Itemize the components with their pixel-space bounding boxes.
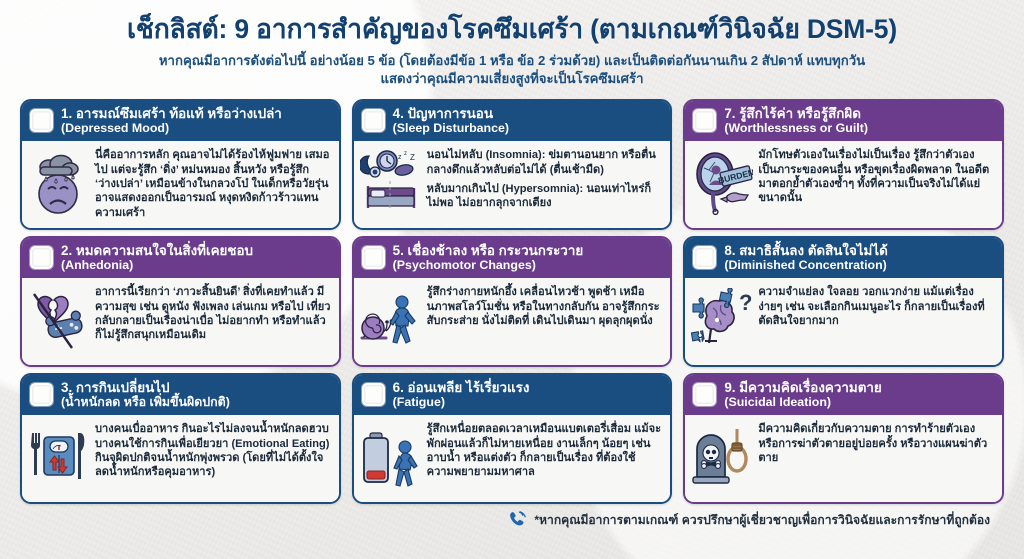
moon-clock-bed-icon: z z Z [360,148,422,220]
card-body: BURDEN มักโทษตัวเองในเรื่องไม่เป็นเรื่อง… [685,141,1002,228]
card-body: z z Z นอนไม่หลับ ( [354,141,671,228]
snail-walking-person-icon [360,285,422,357]
card-body: บางคนเบื่ออาหาร กินอะไรไม่ลงจนน้ำหนักลดฮ… [22,415,339,502]
card-body: มีความคิดเกี่ยวกับความตาย การทำร้ายตัวเอ… [685,415,1002,502]
cracked-mirror-burden-icon: BURDEN [691,148,753,220]
symptom-card-7[interactable]: 7. รู้สึกไร้ค่า หรือรู้สึกผิด (Worthless… [683,99,1004,230]
description-paragraph: มักโทษตัวเองในเรื่องไม่เป็นเรื่อง รู้สึก… [758,148,994,205]
checkbox-symptom-1[interactable] [30,109,53,132]
description-paragraph: อาการนี้เรียกว่า ‘ภาวะสิ้นยินดี’ สิ่งที่… [95,285,331,342]
svg-text:Z: Z [410,153,415,162]
card-header: 1. อารมณ์ซึมเศร้า ท้อแท้ หรือว่างเปล่า (… [22,101,339,141]
card-title-en: (Anhedonia) [61,258,253,272]
description-paragraph: รู้สึกเหนื่อยตลอดเวลาเหมือนแบตเตอรี่เสื่… [427,422,663,479]
symptom-card-6[interactable]: 6. อ่อนเพลีย ไร้เรี่ยวแรง (Fatigue) [352,373,673,504]
checkbox-symptom-3[interactable] [30,383,53,406]
phone-ringing-icon [508,511,528,529]
description-paragraph: รู้สึกร่างกายหนักอึ้ง เคลื่อนไหวช้า พูดช… [427,285,663,328]
description-paragraph: บางคนเบื่ออาหาร กินอะไรไม่ลงจนน้ำหนักลดฮ… [95,422,331,479]
tombstone-noose-icon [691,422,753,494]
card-title-th: 3. การกินเปลี่ยนไป [61,380,230,395]
fork-knife-weight-scale-icon [28,422,90,494]
card-description: นี่คืออาการหลัก คุณอาจไม่ได้ร้องไห้ฟูมฟา… [95,148,331,219]
footer: *หากคุณมีอาการตามเกณฑ์ ควรปรึกษาผู้เชี่ย… [0,511,1024,530]
checkbox-symptom-9[interactable] [693,383,716,406]
card-title-en: (Worthlessness or Guilt) [724,121,868,135]
card-title-th: 5. เชื่องช้าลง หรือ กระวนกระวาย [393,243,584,258]
card-header: 7. รู้สึกไร้ค่า หรือรู้สึกผิด (Worthless… [685,101,1002,141]
card-body: ? ความจำแย่ลง ใจลอย วอกแวกง่าย แม้แต่เรื… [685,278,1002,365]
brain-puzzle-question-icon: ? [691,285,753,357]
card-title-th: 1. อารมณ์ซึมเศร้า ท้อแท้ หรือว่างเปล่า [61,106,282,121]
card-body: รู้สึกเหนื่อยตลอดเวลาเหมือนแบตเตอรี่เสื่… [354,415,671,502]
svg-text:?: ? [739,290,752,315]
checkbox-symptom-7[interactable] [693,109,716,132]
description-paragraph: นอนไม่หลับ (Insomnia): ข่มตานอนยาก หรือต… [427,148,663,177]
card-description: มักโทษตัวเองในเรื่องไม่เป็นเรื่อง รู้สึก… [758,148,994,205]
card-description: รู้สึกร่างกายหนักอึ้ง เคลื่อนไหวช้า พูดช… [427,285,663,328]
checkbox-symptom-4[interactable] [362,109,385,132]
card-title-en: (Diminished Concentration) [724,258,887,272]
symptom-card-3[interactable]: 3. การกินเปลี่ยนไป (น้ำหนักลด หรือ เพิ่ม… [20,373,341,504]
card-header: 2. หมดความสนใจในสิ่งที่เคยชอบ (Anhedonia… [22,238,339,278]
card-header: 8. สมาธิสั้นลง ตัดสินใจไม่ได้ (Diminishe… [685,238,1002,278]
symptom-card-9[interactable]: 9. มีความคิดเรื่องความตาย (Suicidal Idea… [683,373,1004,504]
rain-cloud-sad-face-icon [28,148,90,220]
description-paragraph: มีความคิดเกี่ยวกับความตาย การทำร้ายตัวเอ… [758,422,994,465]
subtitle-line-1: หากคุณมีอาการดังต่อไปนี้ อย่างน้อย 5 ข้อ… [20,52,1004,70]
symptom-card-5[interactable]: 5. เชื่องช้าลง หรือ กระวนกระวาย (Psychom… [352,236,673,367]
checkbox-symptom-8[interactable] [693,246,716,269]
card-header: 4. ปัญหาการนอน (Sleep Disturbance) [354,101,671,141]
card-title-th: 7. รู้สึกไร้ค่า หรือรู้สึกผิด [724,106,868,121]
card-description: ความจำแย่ลง ใจลอย วอกแวกง่าย แม้แต่เรื่อ… [758,285,994,328]
card-title-en: (น้ำหนักลด หรือ เพิ่มขึ้นผิดปกติ) [61,395,230,409]
card-body: รู้สึกร่างกายหนักอึ้ง เคลื่อนไหวช้า พูดช… [354,278,671,365]
symptom-card-4[interactable]: 4. ปัญหาการนอน (Sleep Disturbance) z z Z [352,99,673,230]
card-body: นี่คืออาการหลัก คุณอาจไม่ได้ร้องไห้ฟูมฟา… [22,141,339,228]
card-title-en: (Suicidal Ideation) [724,395,881,409]
card-header: 3. การกินเปลี่ยนไป (น้ำหนักลด หรือ เพิ่ม… [22,375,339,415]
card-header: 5. เชื่องช้าลง หรือ กระวนกระวาย (Psychom… [354,238,671,278]
card-title-th: 2. หมดความสนใจในสิ่งที่เคยชอบ [61,243,253,258]
header: เช็กลิสต์: 9 อาการสำคัญของโรคซึมเศร้า (ต… [0,0,1024,88]
card-description: นอนไม่หลับ (Insomnia): ข่มตานอนยาก หรือต… [427,148,663,210]
svg-text:z: z [398,154,402,161]
infographic-page: เช็กลิสต์: 9 อาการสำคัญของโรคซึมเศร้า (ต… [0,0,1024,559]
subtitle-line-2: แสดงว่าคุณมีความเสี่ยงสูงที่จะเป็นโรคซึม… [20,70,1004,88]
checkbox-symptom-5[interactable] [362,246,385,269]
card-description: อาการนี้เรียกว่า ‘ภาวะสิ้นยินดี’ สิ่งที่… [95,285,331,342]
page-title: เช็กลิสต์: 9 อาการสำคัญของโรคซึมเศร้า (ต… [20,14,1004,45]
card-title-th: 4. ปัญหาการนอน [393,106,509,121]
symptom-card-grid: 1. อารมณ์ซึมเศร้า ท้อแท้ หรือว่างเปล่า (… [20,99,1004,504]
svg-text:z: z [404,151,407,157]
card-title-en: (Depressed Mood) [61,121,282,135]
card-description: รู้สึกเหนื่อยตลอดเวลาเหมือนแบตเตอรี่เสื่… [427,422,663,479]
description-paragraph: นี่คืออาการหลัก คุณอาจไม่ได้ร้องไห้ฟูมฟา… [95,148,331,219]
card-title-en: (Psychomotor Changes) [393,258,584,272]
checkbox-symptom-2[interactable] [30,246,53,269]
card-header: 9. มีความคิดเรื่องความตาย (Suicidal Idea… [685,375,1002,415]
card-description: บางคนเบื่ออาหาร กินอะไรไม่ลงจนน้ำหนักลดฮ… [95,422,331,479]
card-header: 6. อ่อนเพลีย ไร้เรี่ยวแรง (Fatigue) [354,375,671,415]
card-title-en: (Sleep Disturbance) [393,121,509,135]
low-battery-tired-person-icon [360,422,422,494]
card-title-th: 9. มีความคิดเรื่องความตาย [724,380,881,395]
symptom-card-2[interactable]: 2. หมดความสนใจในสิ่งที่เคยชอบ (Anhedonia… [20,236,341,367]
checkbox-symptom-6[interactable] [362,383,385,406]
card-title-th: 6. อ่อนเพลีย ไร้เรี่ยวแรง [393,380,530,395]
symptom-card-1[interactable]: 1. อารมณ์ซึมเศร้า ท้อแท้ หรือว่างเปล่า (… [20,99,341,230]
broken-heart-gamepad-icon [28,285,90,357]
card-description: มีความคิดเกี่ยวกับความตาย การทำร้ายตัวเอ… [758,422,994,465]
description-paragraph: หลับมากเกินไป (Hypersomnia): นอนเท่าไหร่… [427,182,663,211]
symptom-card-8[interactable]: 8. สมาธิสั้นลง ตัดสินใจไม่ได้ (Diminishe… [683,236,1004,367]
description-paragraph: ความจำแย่ลง ใจลอย วอกแวกง่าย แม้แต่เรื่อ… [758,285,994,328]
footer-note: *หากคุณมีอาการตามเกณฑ์ ควรปรึกษาผู้เชี่ย… [534,511,990,530]
card-title-en: (Fatigue) [393,395,530,409]
card-title-th: 8. สมาธิสั้นลง ตัดสินใจไม่ได้ [724,243,887,258]
card-body: อาการนี้เรียกว่า ‘ภาวะสิ้นยินดี’ สิ่งที่… [22,278,339,365]
